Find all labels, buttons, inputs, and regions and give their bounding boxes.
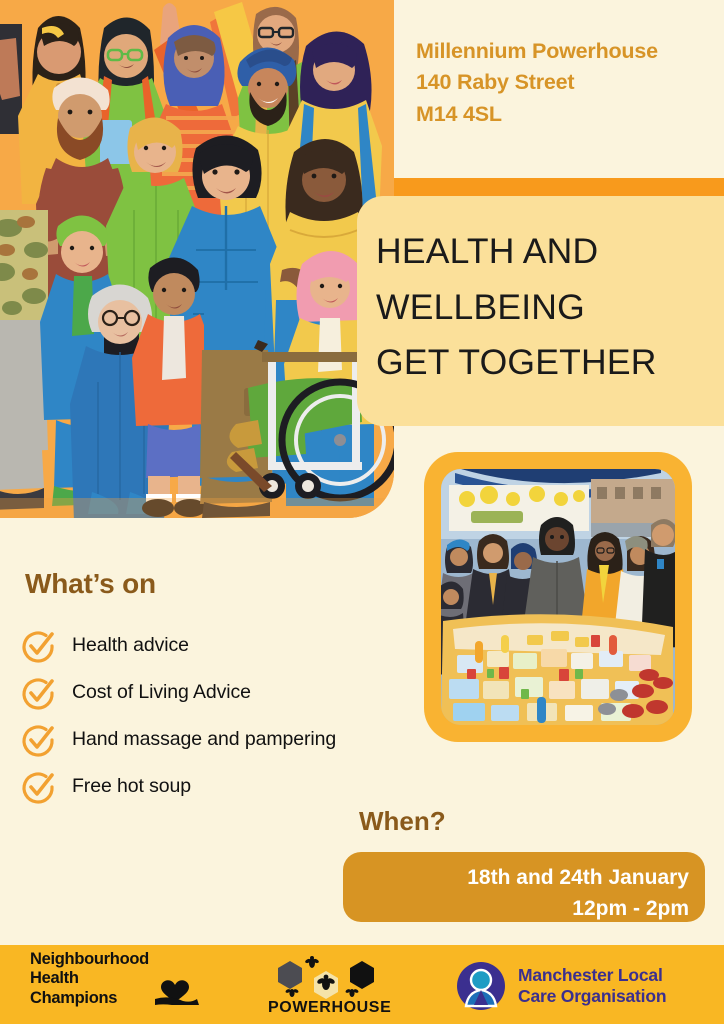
- whats-on-list: Health advice Cost of Living Advice Hand…: [20, 622, 440, 810]
- nhc-wordmark: Neighbourhood Health Champions: [30, 950, 149, 1008]
- list-item: Cost of Living Advice: [20, 669, 440, 716]
- venue-address: Millennium Powerhouse 140 Raby Street M1…: [416, 36, 716, 130]
- event-photo: [441, 469, 675, 725]
- poster-root: Millennium Powerhouse 140 Raby Street M1…: [0, 0, 724, 1024]
- event-photo-image: [441, 469, 675, 725]
- heart-in-hand-icon: [155, 971, 199, 1005]
- list-item-label: Cost of Living Advice: [72, 681, 251, 704]
- mlco-wordmark: Manchester Local Care Organisation: [518, 965, 666, 1008]
- list-item: Hand massage and pampering: [20, 716, 440, 763]
- check-circle-icon: [20, 769, 56, 805]
- check-circle-icon: [20, 628, 56, 664]
- nhc-line-2: Health: [30, 969, 149, 988]
- list-item-label: Health advice: [72, 634, 189, 657]
- venue-postcode: M14 4SL: [416, 99, 716, 130]
- page-title: HEALTH AND WELLBEING GET TOGETHER: [376, 224, 716, 391]
- person-circle-icon: [456, 961, 506, 1011]
- venue-street: 140 Raby Street: [416, 67, 716, 98]
- list-item-label: Hand massage and pampering: [72, 728, 336, 751]
- powerhouse-wordmark: POWERHOUSE: [268, 999, 384, 1017]
- crowd-illustration-image: [0, 0, 394, 518]
- nhc-line-3: Champions: [30, 989, 149, 1008]
- when-heading: When?: [359, 806, 446, 837]
- whats-on-heading: What’s on: [25, 568, 156, 600]
- when-dates: 18th and 24th January: [343, 862, 689, 893]
- mlco-line-1: Manchester Local: [518, 965, 666, 986]
- venue-name: Millennium Powerhouse: [416, 36, 716, 67]
- logo-neighbourhood-health-champions: Neighbourhood Health Champions: [30, 950, 199, 1008]
- when-details: 18th and 24th January 12pm - 2pm: [343, 862, 689, 924]
- logo-manchester-local-care-organisation: Manchester Local Care Organisation: [456, 961, 666, 1011]
- title-line-3: GET TOGETHER: [376, 335, 716, 391]
- mlco-line-2: Care Organisation: [518, 986, 666, 1007]
- crowd-illustration-panel: [0, 0, 394, 518]
- hexagon-bees-icon: [268, 955, 384, 999]
- list-item: Free hot soup: [20, 763, 440, 810]
- check-circle-icon: [20, 722, 56, 758]
- logo-powerhouse: POWERHOUSE: [268, 955, 384, 1017]
- title-line-2: WELLBEING: [376, 280, 716, 336]
- check-circle-icon: [20, 675, 56, 711]
- nhc-line-1: Neighbourhood: [30, 950, 149, 969]
- when-times: 12pm - 2pm: [343, 893, 689, 924]
- list-item: Health advice: [20, 622, 440, 669]
- event-photo-frame: [424, 452, 692, 742]
- list-item-label: Free hot soup: [72, 775, 191, 798]
- title-line-1: HEALTH AND: [376, 224, 716, 280]
